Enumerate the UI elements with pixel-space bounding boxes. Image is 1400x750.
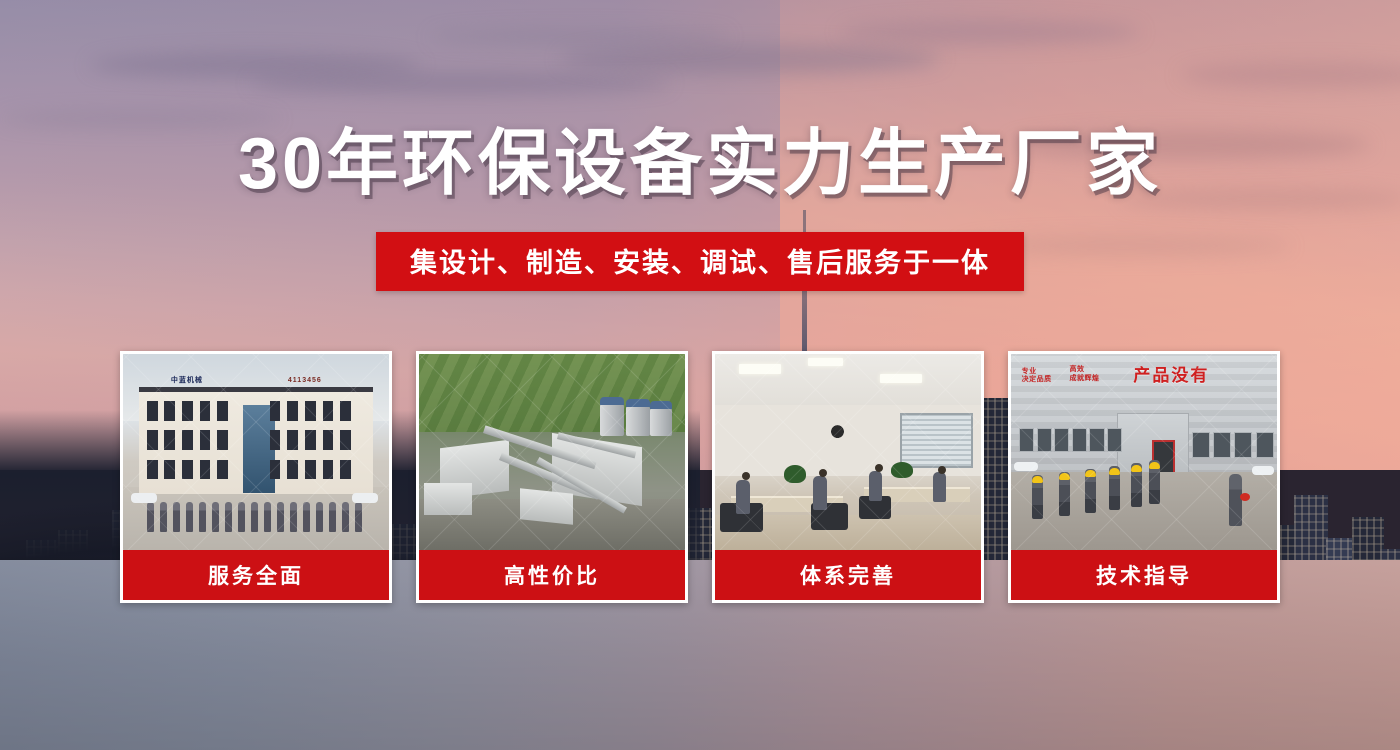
factory-window [1256,432,1274,458]
factory-window [1037,428,1052,452]
silo-cap [626,399,650,407]
staff-member [212,502,219,532]
feature-card[interactable]: 高性价比 [416,351,688,603]
card-photo-plant-aerial [419,354,685,550]
card-photo-office-building: 中蓝机械 4113456 [123,354,389,550]
factory-window [1072,428,1087,452]
building-window [182,430,193,450]
building-window [200,401,211,421]
building-window [323,430,334,450]
factory-window [1234,432,1252,458]
cloud [840,20,1140,44]
parked-car [352,493,378,503]
building-phone-sign: 4113456 [288,374,378,388]
building-window [287,460,298,480]
staff-member [290,502,297,532]
factory-window [1054,428,1069,452]
cloud [250,72,670,94]
office-worker [869,471,882,501]
building-window [164,460,175,480]
silo [650,405,671,436]
building-window [287,401,298,421]
building-window [340,460,351,480]
factory-wall-sign: 产品没有 [1133,360,1277,387]
feature-card[interactable]: 产品没有 专业决定品质 高效成就辉煌 技术指导 [1008,351,1280,603]
ceiling-light [739,364,782,374]
cloud [430,28,730,46]
building-window [270,460,281,480]
building-window [340,430,351,450]
staff-member [355,502,362,532]
factory-window [1192,432,1210,458]
factory-window [1107,428,1122,452]
office-worker [813,476,827,510]
building-window [147,430,158,450]
feature-card[interactable]: 中蓝机械 4113456 服务全面 [120,351,392,603]
building-window [323,460,334,480]
feature-card-row: 中蓝机械 4113456 服务全面 [120,351,1280,603]
office-worker [736,480,750,514]
building-window [164,430,175,450]
factory-window [1213,432,1231,458]
building-window [217,401,228,421]
building-window [200,460,211,480]
ceiling-light [808,358,843,366]
card-caption: 技术指导 [1011,550,1277,600]
building-window [270,401,281,421]
staff-member [251,502,258,532]
building-window [305,460,316,480]
potted-plant [891,462,913,478]
building-window [217,430,228,450]
parked-car [1252,466,1274,475]
staff-member [264,502,271,532]
subtitle-banner: 集设计、制造、安装、调试、售后服务于一体 [376,232,1024,291]
yellow-helmet [1131,465,1142,472]
building-window [200,430,211,450]
building-window [217,460,228,480]
building-window [182,401,193,421]
feature-card[interactable]: 体系完善 [712,351,984,603]
card-caption: 服务全面 [123,550,389,600]
staff-member [316,502,323,532]
staff-member [238,502,245,532]
yellow-helmet [1085,470,1096,477]
office-worker-head [742,472,750,480]
building-window [147,401,158,421]
silo-cap [650,401,671,409]
staff-member [173,502,180,532]
parked-car [1014,462,1038,471]
building-window [164,401,175,421]
office-worker-head [875,464,883,472]
building-window [147,460,158,480]
card-caption: 高性价比 [419,550,685,600]
factory-window [1089,428,1104,452]
building-window [270,430,281,450]
plant-building [520,488,573,525]
building-window [182,460,193,480]
office-worker-head [819,469,827,477]
factory-slogan-left: 专业决定品质 [1022,368,1052,386]
card-caption: 体系完善 [715,550,981,600]
card-photo-office-interior [715,354,981,550]
silo-cap [600,397,624,405]
staff-member [186,502,193,532]
supervisor [1229,474,1242,526]
staff-member [277,502,284,532]
staff-member [342,502,349,532]
staff-member [147,502,154,532]
building-window [323,401,334,421]
factory-slogan-right: 高效成就辉煌 [1070,366,1100,384]
yellow-helmet [1059,473,1070,480]
building-window [287,430,298,450]
building-company-sign: 中蓝机械 [171,374,261,388]
yellow-helmet [1149,462,1160,469]
staff-member [199,502,206,532]
factory-window [1019,428,1034,452]
wall-logo-decal [816,413,859,444]
staff-member [303,502,310,532]
yellow-helmet [1032,476,1043,483]
card-photo-factory-workers: 产品没有 专业决定品质 高效成就辉煌 [1011,354,1277,550]
office-worker-head [938,466,946,474]
staff-member [225,502,232,532]
staff-member [329,502,336,532]
parked-car [131,493,157,503]
building-window [305,430,316,450]
building-window [305,401,316,421]
potted-plant [784,465,806,483]
silo [626,403,650,436]
building-window [340,401,351,421]
ceiling-light [880,374,923,384]
office-worker [933,472,946,502]
staff-member [160,502,167,532]
silo [600,401,624,436]
cloud [560,44,940,74]
banner-stage: 30年环保设备实力生产厂家 集设计、制造、安装、调试、售后服务于一体 中蓝机械 … [0,0,1400,750]
page-title: 30年环保设备实力生产厂家 [0,128,1400,200]
plant-building [424,483,472,514]
